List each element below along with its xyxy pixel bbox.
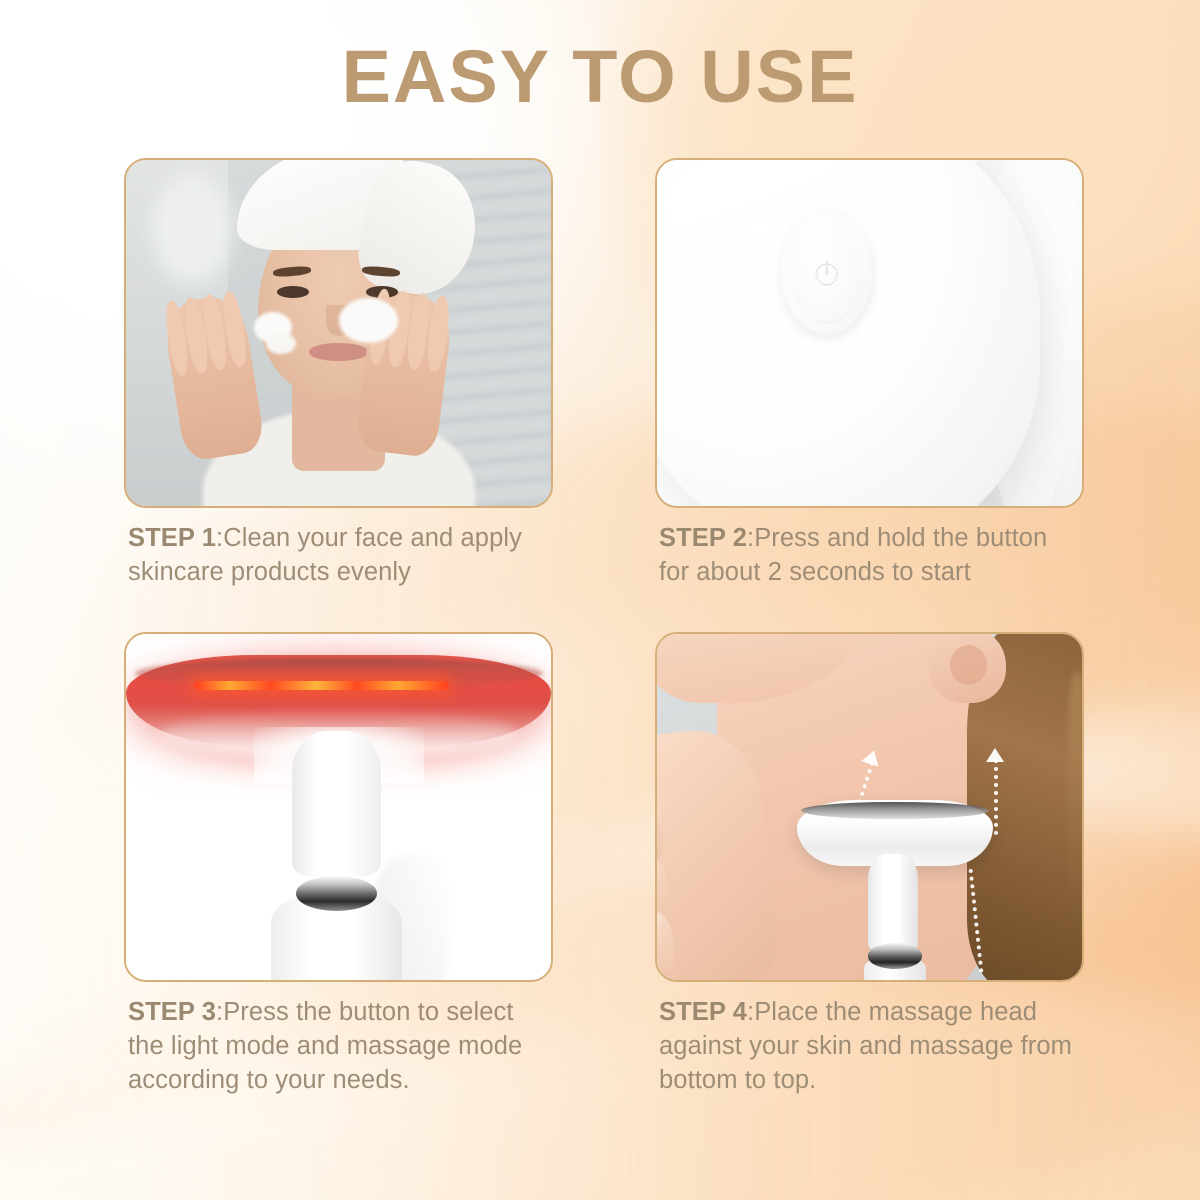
step-card-2: STEP 2:Press and hold the button for abo… — [655, 158, 1084, 590]
step-card-4: STEP 4:Place the massage head against yo… — [655, 632, 1084, 1098]
ear — [929, 632, 1006, 703]
step-3-image — [124, 632, 553, 982]
fingernail — [655, 913, 663, 931]
step-2-label: STEP 2 — [659, 524, 747, 552]
step-card-3: STEP 3:Press the button to select the li… — [124, 632, 553, 1098]
cream-patch-jaw — [266, 333, 296, 354]
device-body — [655, 158, 1040, 508]
lips — [309, 343, 369, 360]
ear-inner — [950, 645, 987, 685]
page-title: EASY TO USE — [0, 34, 1200, 119]
device-red-light-illustration — [126, 634, 551, 980]
device-stem — [292, 731, 381, 876]
step-4-image — [655, 632, 1084, 982]
fingernail — [655, 857, 658, 875]
chrome-ring — [868, 943, 923, 968]
power-button[interactable] — [779, 209, 875, 337]
step-2-image — [655, 158, 1084, 508]
step-4-caption: STEP 4:Place the massage head against yo… — [655, 996, 1084, 1098]
step-card-1: STEP 1:Clean your face and apply skincar… — [124, 158, 553, 590]
step-4-label: STEP 4 — [659, 998, 747, 1026]
device-stem — [868, 854, 919, 951]
eye-left — [277, 286, 309, 298]
cream-patch-right-cheek — [339, 298, 399, 343]
woman-applying-cream-illustration — [126, 160, 551, 506]
step-1-caption: STEP 1:Clean your face and apply skincar… — [124, 522, 553, 590]
massage-device — [797, 800, 993, 982]
step-1-image — [124, 158, 553, 508]
neck-massage-illustration — [657, 634, 1082, 980]
step-3-label: STEP 3 — [128, 998, 216, 1026]
upward-arrow-2 — [993, 759, 996, 835]
finger — [655, 796, 665, 866]
hair-strand — [1067, 672, 1084, 934]
step-1-label: STEP 1 — [128, 524, 216, 552]
step-3-caption: STEP 3:Press the button to select the li… — [124, 996, 553, 1098]
chrome-ring — [296, 876, 377, 911]
power-icon — [811, 246, 843, 301]
step-2-caption: STEP 2:Press and hold the button for abo… — [655, 522, 1084, 590]
led-strip — [194, 681, 449, 690]
finger — [655, 740, 659, 810]
wall-highlight — [152, 174, 232, 284]
finger — [655, 908, 677, 978]
device-power-button-illustration — [657, 160, 1082, 506]
power-button-face[interactable] — [793, 224, 862, 322]
